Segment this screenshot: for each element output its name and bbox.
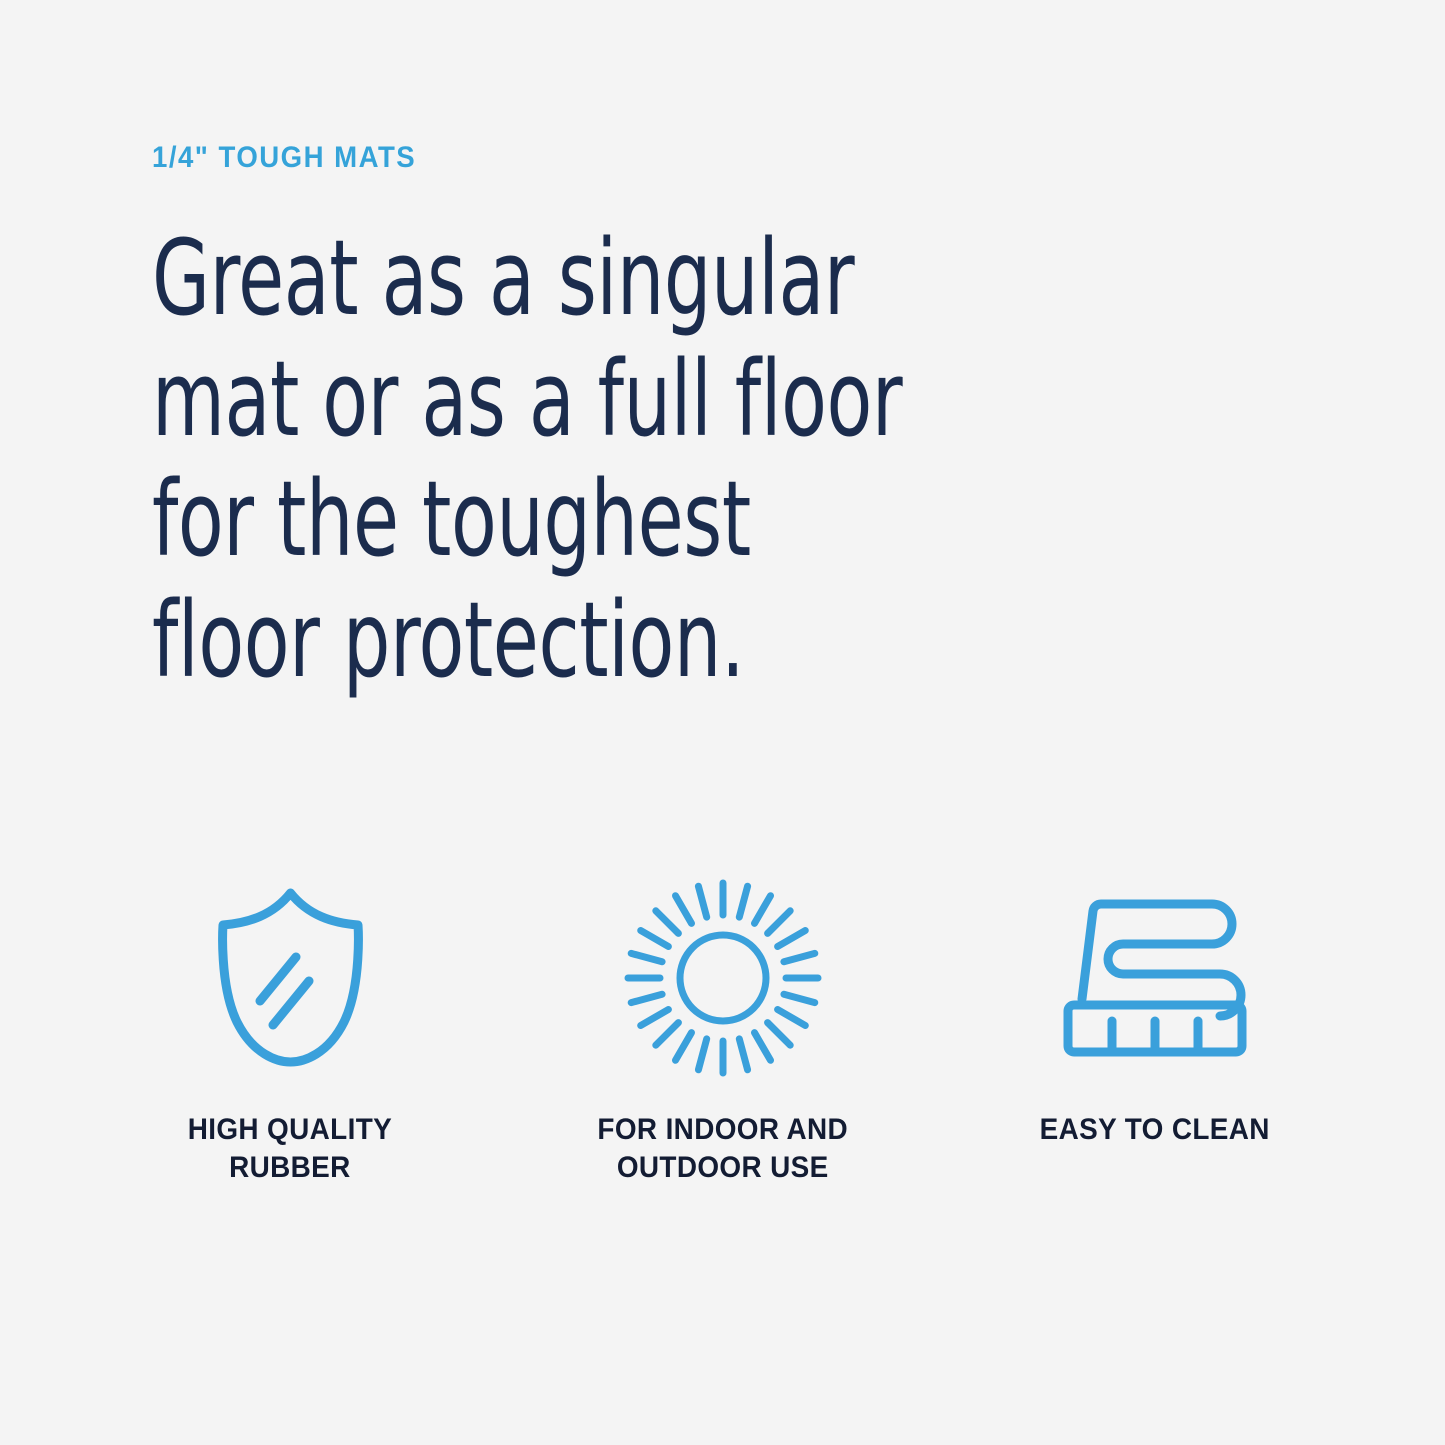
feature-item-indoor-outdoor: FOR INDOOR AND OUTDOOR USE: [523, 870, 923, 1188]
headline-block: 1/4" TOUGH MATS Great as a singular mat …: [152, 140, 1192, 701]
feature-caption: HIGH QUALITY RUBBER: [188, 1111, 392, 1188]
feature-item-easy-to-clean: EASY TO CLEAN: [955, 870, 1355, 1149]
product-feature-panel: 1/4" TOUGH MATS Great as a singular mat …: [0, 0, 1445, 1445]
scrub-brush-icon: [1060, 870, 1250, 1085]
feature-list: HIGH QUALITY RUBBER: [90, 870, 1355, 1188]
page-title: Great as a singular mat or as a full flo…: [152, 218, 984, 701]
eyebrow-label: 1/4" TOUGH MATS: [152, 140, 1109, 176]
feature-caption: EASY TO CLEAN: [1040, 1111, 1270, 1149]
feature-item-high-quality-rubber: HIGH QUALITY RUBBER: [90, 870, 490, 1188]
sun-icon: [618, 870, 828, 1085]
shield-icon: [203, 870, 378, 1085]
feature-caption: FOR INDOOR AND OUTDOOR USE: [597, 1111, 848, 1188]
